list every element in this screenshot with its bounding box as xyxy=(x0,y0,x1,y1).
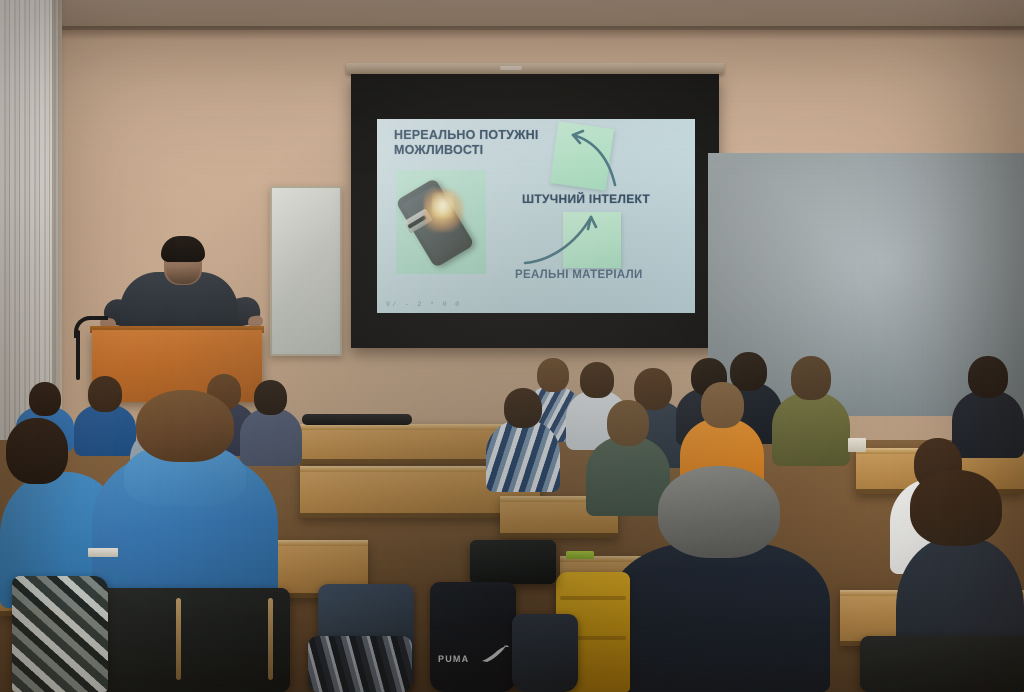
presentation-slide: НЕРЕАЛЬНО ПОТУЖНІ МОЖЛИВОСТІ ШТУЧНИЙ ІНТ… xyxy=(377,119,695,313)
presenter-hair xyxy=(161,236,205,262)
paper-sheet-right xyxy=(848,438,866,452)
slide-square-top xyxy=(550,121,614,190)
chair-slat xyxy=(176,598,181,680)
student-khaki-top xyxy=(772,356,850,466)
slide-footer-marks: 9/ - 2 * 0 0 xyxy=(386,301,462,308)
screen-roller-highlight xyxy=(500,66,522,70)
backpack-puma: PUMA xyxy=(430,582,516,692)
microphone-stand xyxy=(76,330,80,380)
desk-edge xyxy=(500,533,618,538)
student-head xyxy=(6,418,68,484)
ai-glow-core xyxy=(432,192,454,218)
backpack-side xyxy=(512,614,578,692)
student-torso xyxy=(772,392,850,466)
student-torso xyxy=(610,542,830,692)
slide-bottom-label: РЕАЛЬНІ МАТЕРІАЛИ xyxy=(515,269,643,281)
desk-rail-back xyxy=(302,414,412,425)
student-head xyxy=(910,470,1002,546)
student-torso xyxy=(486,420,560,492)
student-head xyxy=(791,356,831,400)
chair-mid-center xyxy=(470,540,556,584)
student-head xyxy=(504,388,542,428)
chair-foreground-left xyxy=(96,588,290,692)
desk-edge xyxy=(300,459,510,464)
plaid-jacket-draped xyxy=(12,576,108,692)
student-head xyxy=(537,358,569,392)
student-blue-check-jacket xyxy=(486,388,560,492)
chair-right-front xyxy=(860,636,1024,692)
slide-phone-image xyxy=(396,170,486,274)
student-head xyxy=(658,466,780,558)
student-head xyxy=(701,382,744,428)
lecture-hall-photo: НЕРЕАЛЬНО ПОТУЖНІ МОЖЛИВОСТІ ШТУЧНИЙ ІНТ… xyxy=(0,0,1024,692)
puma-cat-icon xyxy=(480,644,510,664)
student-head xyxy=(607,400,649,446)
blinds-edge-shadow xyxy=(52,0,66,440)
student-head xyxy=(580,362,614,398)
slide-center-label: ШТУЧНИЙ ІНТЕЛЕКТ xyxy=(522,192,650,206)
screen-roller-housing xyxy=(346,63,724,74)
puffer-seam xyxy=(560,596,626,600)
blinds-shading xyxy=(0,0,58,440)
whiteboard-left xyxy=(270,186,342,356)
student-head xyxy=(29,382,61,416)
puma-wordmark: PUMA xyxy=(438,654,469,664)
ceiling-shadow xyxy=(0,26,1024,40)
desk-row-back-center xyxy=(300,424,510,464)
green-notebook xyxy=(566,551,594,559)
student-blue-hoodie-foreground xyxy=(92,390,278,620)
student-head xyxy=(136,390,234,462)
slide-square-bottom xyxy=(563,212,621,268)
notebook-paper xyxy=(88,548,118,557)
backpack-patterned xyxy=(308,636,412,692)
student-gray-hair-foreground xyxy=(610,466,830,692)
chair-slat-2 xyxy=(268,598,273,680)
student-head xyxy=(968,356,1008,398)
